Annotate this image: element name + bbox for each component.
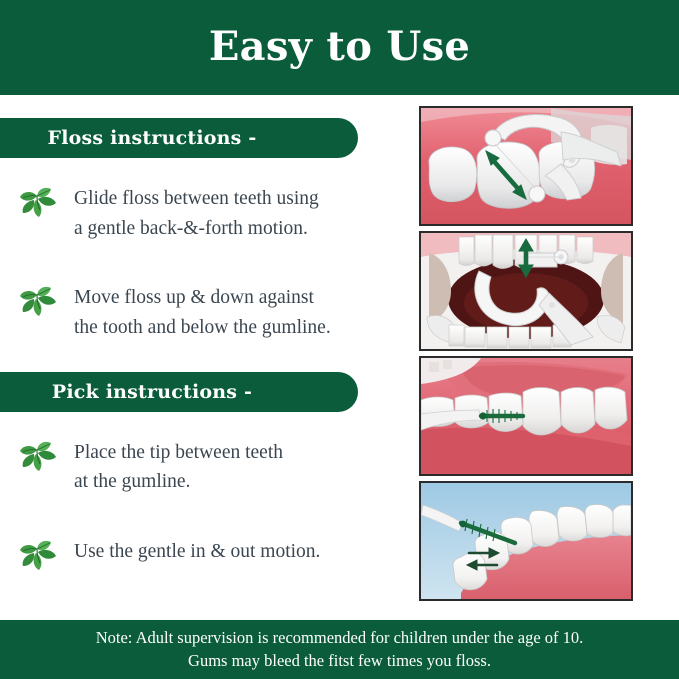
list-item-label: Place the tip between teeth at the gumli… bbox=[62, 438, 283, 497]
section-banner-floss: Floss instructions - bbox=[0, 118, 358, 158]
floss-instruction-list: Glide floss between teeth using a gentle… bbox=[0, 184, 400, 343]
illustration-column bbox=[419, 106, 635, 601]
list-item: Move floss up & down against the tooth a… bbox=[0, 283, 400, 342]
floss-pick-front-teeth-photo bbox=[419, 231, 633, 351]
footer-note-band: Note: Adult supervision is recommended f… bbox=[0, 620, 679, 679]
mint-leaf-icon bbox=[14, 540, 62, 574]
section-banner-pick: Pick instructions - bbox=[0, 372, 358, 412]
list-item: Use the gentle in & out motion. bbox=[0, 537, 400, 574]
interdental-pick-in-out-photo bbox=[419, 481, 633, 601]
floss-pick-between-molars-photo bbox=[419, 106, 633, 226]
pick-instruction-list: Place the tip between teeth at the gumli… bbox=[0, 438, 400, 574]
mint-leaf-icon bbox=[14, 187, 62, 221]
list-item: Glide floss between teeth using a gentle… bbox=[0, 184, 400, 243]
section-banner-pick-label: Pick instructions - bbox=[52, 381, 306, 403]
main-content: Floss instructions - bbox=[0, 95, 679, 620]
list-item-label: Use the gentle in & out motion. bbox=[62, 537, 320, 567]
interdental-pick-gumline-photo bbox=[419, 356, 633, 476]
instructions-column: Floss instructions - bbox=[0, 95, 400, 620]
footer-note-line-1: Note: Adult supervision is recommended f… bbox=[96, 627, 584, 649]
list-item-label: Glide floss between teeth using a gentle… bbox=[62, 184, 319, 243]
list-item: Place the tip between teeth at the gumli… bbox=[0, 438, 400, 497]
page-title: Easy to Use bbox=[209, 27, 470, 67]
mint-leaf-icon bbox=[14, 286, 62, 320]
header-band: Easy to Use bbox=[0, 0, 679, 92]
section-banner-floss-label: Floss instructions - bbox=[48, 127, 311, 149]
list-item-label: Move floss up & down against the tooth a… bbox=[62, 283, 331, 342]
mint-leaf-icon bbox=[14, 441, 62, 475]
footer-note-line-2: Gums may bleed the fitst few times you f… bbox=[188, 650, 491, 672]
